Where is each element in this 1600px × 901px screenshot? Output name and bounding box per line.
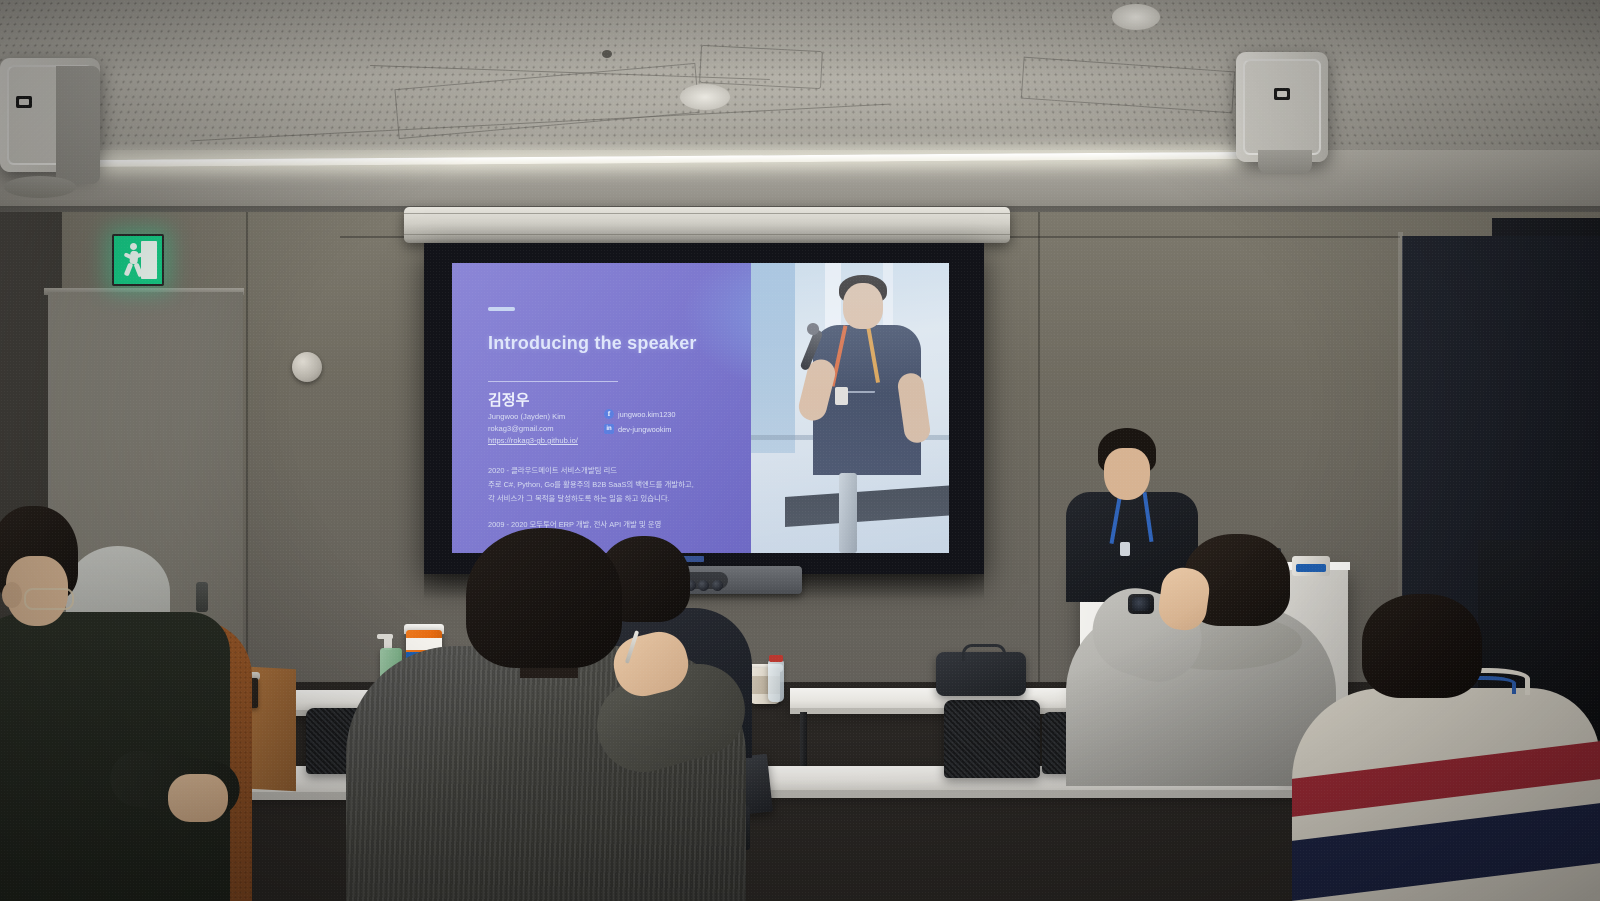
slide-title: Introducing the speaker <box>488 333 698 354</box>
camera-lens-icon <box>712 580 723 591</box>
running-man-icon <box>123 243 145 277</box>
wall-mounted-sensor-icon <box>292 352 322 382</box>
table-edge <box>756 790 1316 798</box>
podium-container-label <box>1296 564 1326 572</box>
slide-accent-dash <box>488 307 515 311</box>
speaker-grille <box>1243 59 1321 155</box>
jbl-logo-icon <box>16 96 32 108</box>
speaker-email: rokag3@gmail.com <box>488 423 554 435</box>
facebook-icon: f <box>604 409 614 419</box>
speaker-left-side <box>56 66 100 184</box>
water-bottle <box>768 660 784 702</box>
eyeglasses-icon <box>24 588 74 610</box>
social-link-facebook[interactable]: f jungwoo.kim1230 <box>604 409 676 419</box>
recessed-downlight <box>1112 4 1160 30</box>
recessed-downlight <box>680 84 730 110</box>
exit-sign <box>112 234 164 286</box>
audience-member-striped-sweater-hair <box>1362 594 1482 698</box>
door-handle[interactable] <box>196 582 208 612</box>
facebook-handle: jungwoo.kim1230 <box>618 410 676 419</box>
audience-member-glasses-ear <box>2 582 22 608</box>
audience-member-glasses-hand <box>168 774 228 822</box>
speaker-name-english: Jungwoo (Jayden) Kim <box>488 411 565 423</box>
ceiling-speaker-right <box>1236 52 1328 162</box>
slide-body-line-3: 각 서비스가 그 목적을 달성하도록 하는 일을 하고 있습니다. <box>488 493 718 505</box>
bottle-cap <box>769 655 783 662</box>
linkedin-icon: in <box>604 424 614 434</box>
slide-divider <box>488 381 618 382</box>
photo-haze <box>751 263 949 553</box>
presenter-name-badge <box>1120 542 1130 556</box>
camera-lens-icon <box>698 580 709 591</box>
backpack-handle <box>962 644 1006 661</box>
mesh-task-chair[interactable] <box>944 700 1040 778</box>
presenter-face <box>1104 448 1150 500</box>
speaker-photo <box>751 263 949 553</box>
social-link-linkedin[interactable]: in dev-jungwookim <box>604 424 676 434</box>
conference-room-photo: Introducing the speaker 김정우 Jungwoo (Jay… <box>0 0 1600 901</box>
ceiling-sensor <box>602 50 612 58</box>
speaker-name-korean: 김정우 <box>488 389 529 410</box>
audience-member-grey-sweater-hair <box>466 528 622 668</box>
speaker-website-link[interactable]: https://rokag3-gb.github.io/ <box>488 435 578 447</box>
wall-seam <box>246 212 248 682</box>
jbl-logo-icon <box>1274 88 1290 100</box>
linkedin-handle: dev-jungwookim <box>618 425 671 434</box>
speaker-left-base <box>4 176 76 198</box>
audience-member-glasses-body <box>0 612 230 901</box>
slide-body-line-1: 2020 - 클라우드메이트 서비스개발팀 리드 <box>488 465 718 477</box>
smartwatch-face <box>1132 597 1150 611</box>
ceiling-shading <box>0 0 1600 172</box>
wall-seam <box>1038 212 1040 682</box>
projection-screen-housing <box>404 207 1010 243</box>
slide-body-line-2: 주로 C#, Python, Go를 활용주의 B2B SaaS의 백엔드를 개… <box>488 479 718 491</box>
speaker-right-base <box>1258 150 1312 174</box>
presentation-slide: Introducing the speaker 김정우 Jungwoo (Jay… <box>452 263 949 553</box>
social-links: f jungwoo.kim1230 in dev-jungwookim <box>604 409 676 439</box>
